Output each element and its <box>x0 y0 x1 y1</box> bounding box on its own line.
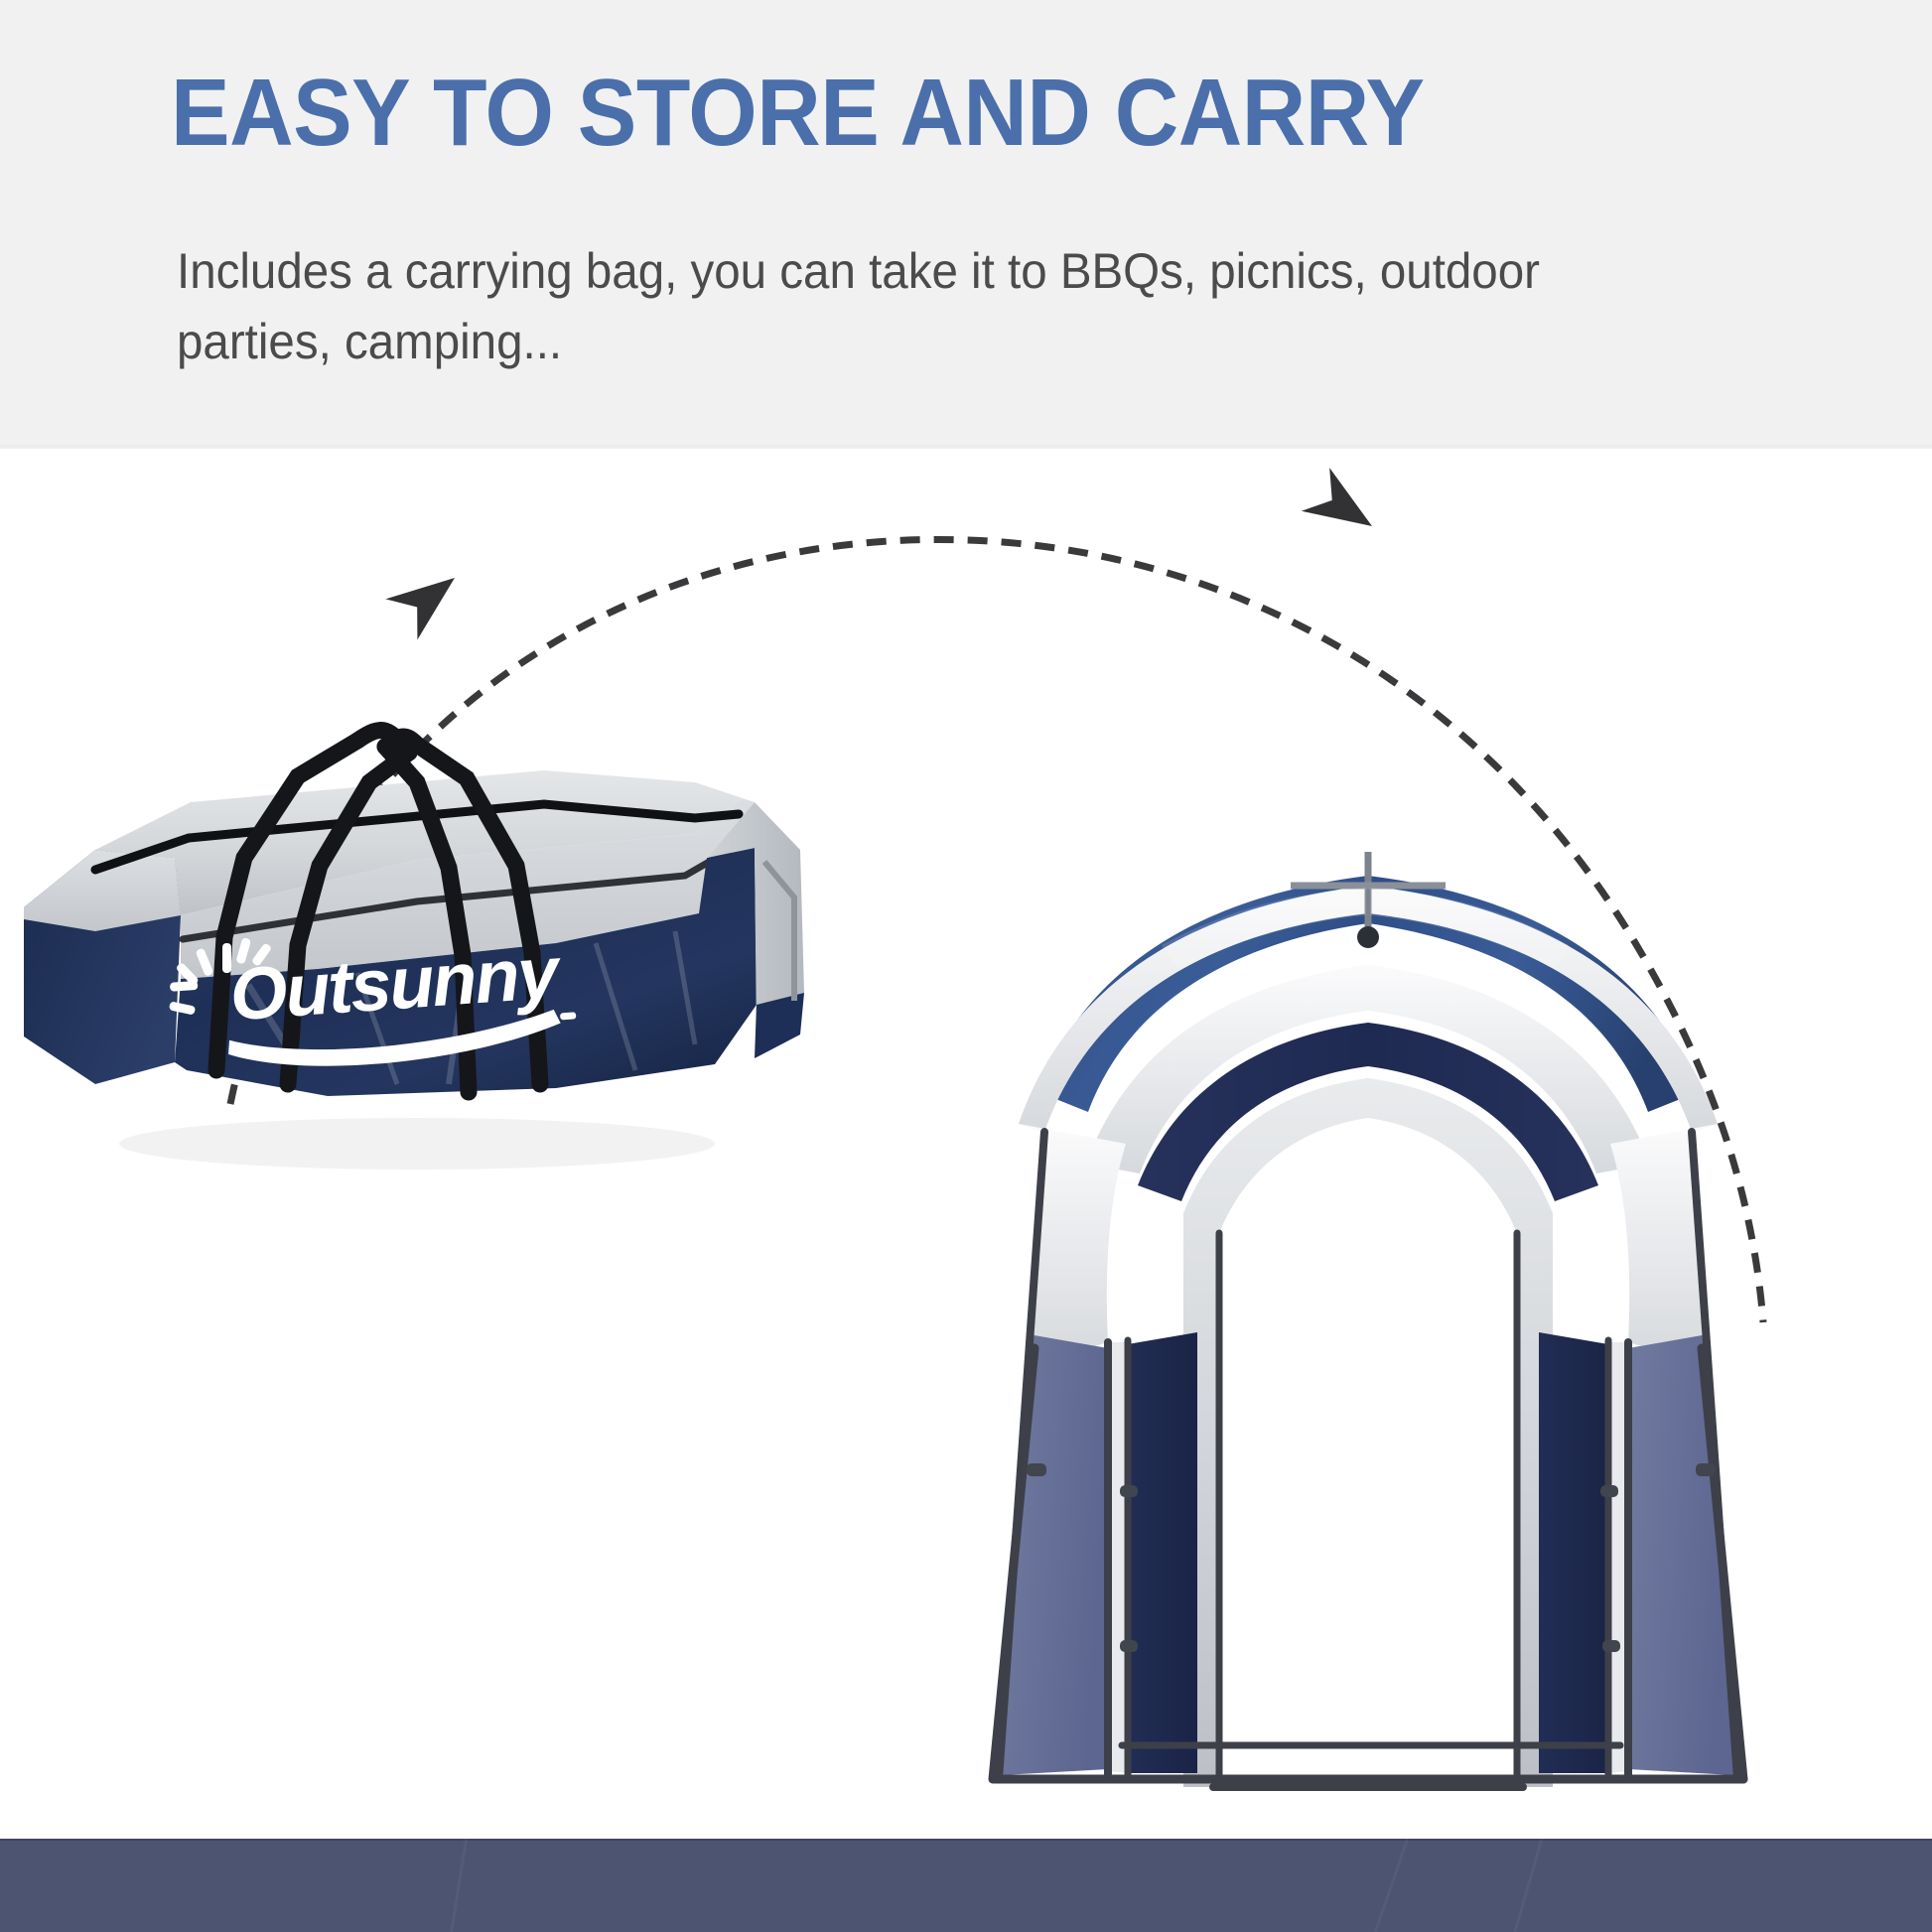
page-subtitle: Includes a carrying bag, you can take it… <box>177 236 1696 377</box>
footer-streak <box>1505 1839 1552 1932</box>
page-title: EASY TO STORE AND CARRY <box>171 62 1425 165</box>
footer-streak <box>442 1839 470 1932</box>
footer-band <box>0 1839 1932 1932</box>
product-feature-slide: EASY TO STORE AND CARRY Includes a carry… <box>0 0 1932 1932</box>
tent-side-wall-right-navy <box>1539 1332 1608 1773</box>
tent-side-wall-left-navy <box>1128 1332 1197 1773</box>
tent-door-rim <box>1183 1078 1553 1787</box>
assembled-tent <box>0 449 1932 1839</box>
header-band: EASY TO STORE AND CARRY Includes a carry… <box>0 0 1932 449</box>
footer-streak <box>1368 1839 1423 1932</box>
product-stage: Outsunny <box>0 449 1932 1839</box>
